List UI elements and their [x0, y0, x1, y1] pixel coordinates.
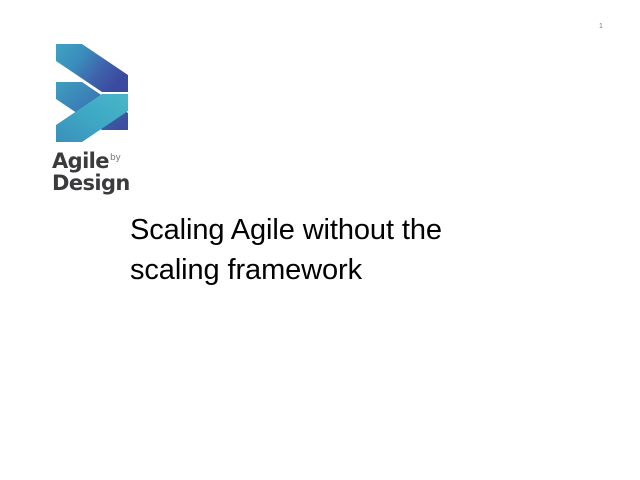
- wordmark-by-text: by: [110, 153, 121, 163]
- slide-title: Scaling Agile without the scaling framew…: [130, 210, 570, 290]
- agile-by-design-logo-mark: [56, 44, 128, 142]
- logo-wordmark: Agileby Design: [52, 151, 152, 195]
- slide-title-line-1: Scaling Agile without the: [130, 210, 570, 250]
- logo-block: Agileby Design: [52, 44, 152, 195]
- wordmark-agile-text: Agile: [52, 149, 109, 173]
- wordmark-design-text: Design: [52, 172, 152, 195]
- slide-title-line-2: scaling framework: [130, 250, 570, 290]
- wordmark-agile-row: Agileby: [52, 151, 152, 171]
- slide-canvas: 1: [0, 0, 640, 480]
- slide-number: 1: [594, 22, 608, 32]
